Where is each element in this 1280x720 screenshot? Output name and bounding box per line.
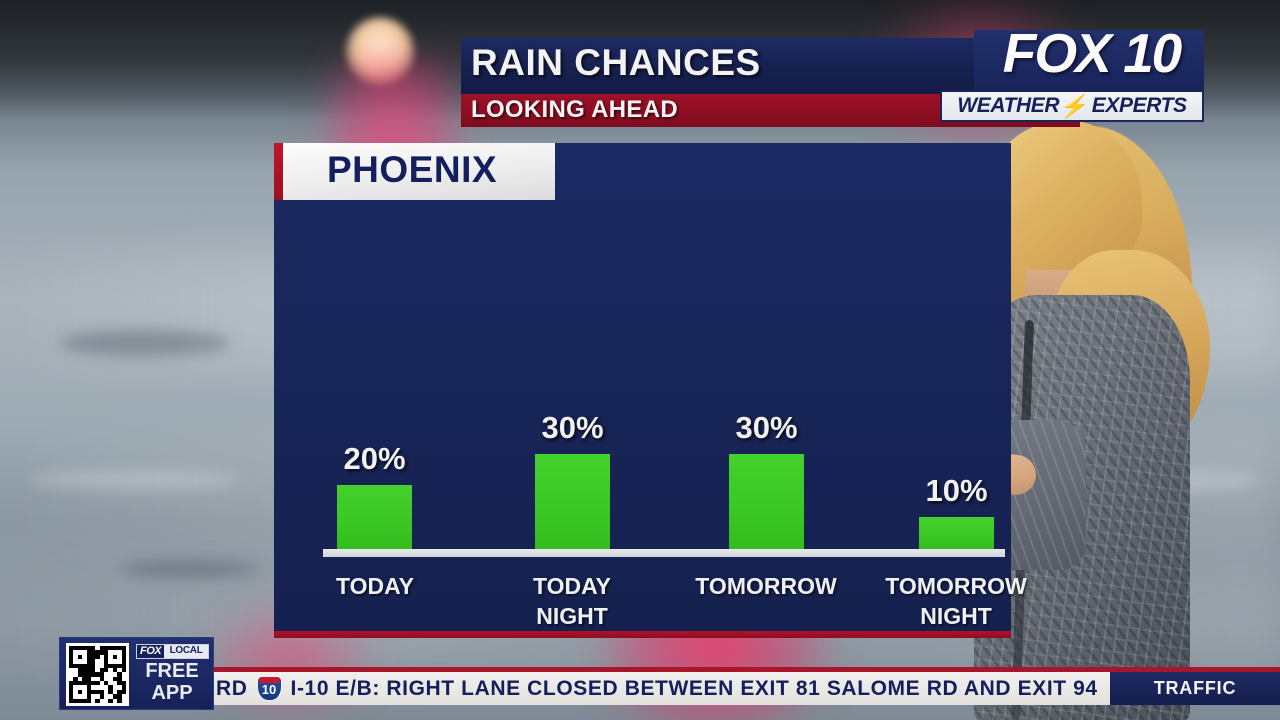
network-logo: FOX 10 WEATHER ⚡ EXPERTS xyxy=(940,30,1204,128)
fox-label: FOX xyxy=(137,645,164,658)
traffic-ticker: RD 10 I-10 E/B: RIGHT LANE CLOSED BETWEE… xyxy=(204,672,1110,705)
bar-label-today: TODAY xyxy=(299,571,451,601)
bar-label-today-night: TODAY NIGHT xyxy=(496,571,648,631)
promo-free-app-text: FREE APP xyxy=(132,660,212,704)
bar-label-tomorrow: TOMORROW xyxy=(680,571,852,601)
bar-chart-plot: 20% TODAY 30% TODAY NIGHT 30% TOMORROW 1… xyxy=(274,143,1011,638)
bar-value-today: 20% xyxy=(317,441,432,477)
fox-local-badge: FOX LOCAL xyxy=(136,644,209,659)
ticker-message: I-10 E/B: RIGHT LANE CLOSED BETWEEN EXIT… xyxy=(291,677,1098,701)
page-title: RAIN CHANCES xyxy=(471,42,761,84)
lightning-bolt-icon: ⚡ xyxy=(1059,95,1093,118)
chart-baseline xyxy=(323,549,1005,557)
bar-label-tomorrow-night: TOMORROW NIGHT xyxy=(870,571,1042,631)
bar-tomorrow xyxy=(729,454,804,549)
broadcast-screen: RAIN CHANCES LOOKING AHEAD FOX 10 WEATHE… xyxy=(0,0,1280,720)
bar-tomorrow-night xyxy=(919,517,994,549)
weather-label: WEATHER xyxy=(957,94,1059,118)
bar-value-tomorrow: 30% xyxy=(709,410,824,446)
rain-chance-chart-panel: PHOENIX 20% TODAY 30% TODAY NIGHT 30% TO… xyxy=(274,143,1011,638)
bar-value-today-night: 30% xyxy=(515,410,630,446)
shield-route-number: 10 xyxy=(257,683,282,697)
promo-line-2: APP xyxy=(151,682,192,704)
background-ripple xyxy=(30,470,240,490)
local-label: LOCAL xyxy=(164,645,208,658)
interstate-shield-icon: 10 xyxy=(257,676,282,701)
qr-code-pattern xyxy=(69,646,126,703)
qr-code[interactable] xyxy=(66,643,129,706)
traffic-section-badge: TRAFFIC xyxy=(1110,672,1280,705)
bar-today-night xyxy=(535,454,610,549)
weather-experts-bar: WEATHER ⚡ EXPERTS xyxy=(940,90,1204,122)
bar-today xyxy=(337,485,412,549)
traffic-label: TRAFFIC xyxy=(1154,678,1237,699)
panel-bottom-rule xyxy=(274,631,1011,638)
promo-line-1: FREE xyxy=(145,660,198,682)
app-promo[interactable]: FOX LOCAL FREE APP xyxy=(59,637,214,710)
experts-label: EXPERTS xyxy=(1092,94,1187,118)
fox10-wordmark: FOX 10 xyxy=(984,21,1199,85)
bar-value-tomorrow-night: 10% xyxy=(899,473,1014,509)
background-ripple xyxy=(120,560,260,578)
background-ripple xyxy=(60,330,230,356)
page-subtitle: LOOKING AHEAD xyxy=(471,96,678,124)
